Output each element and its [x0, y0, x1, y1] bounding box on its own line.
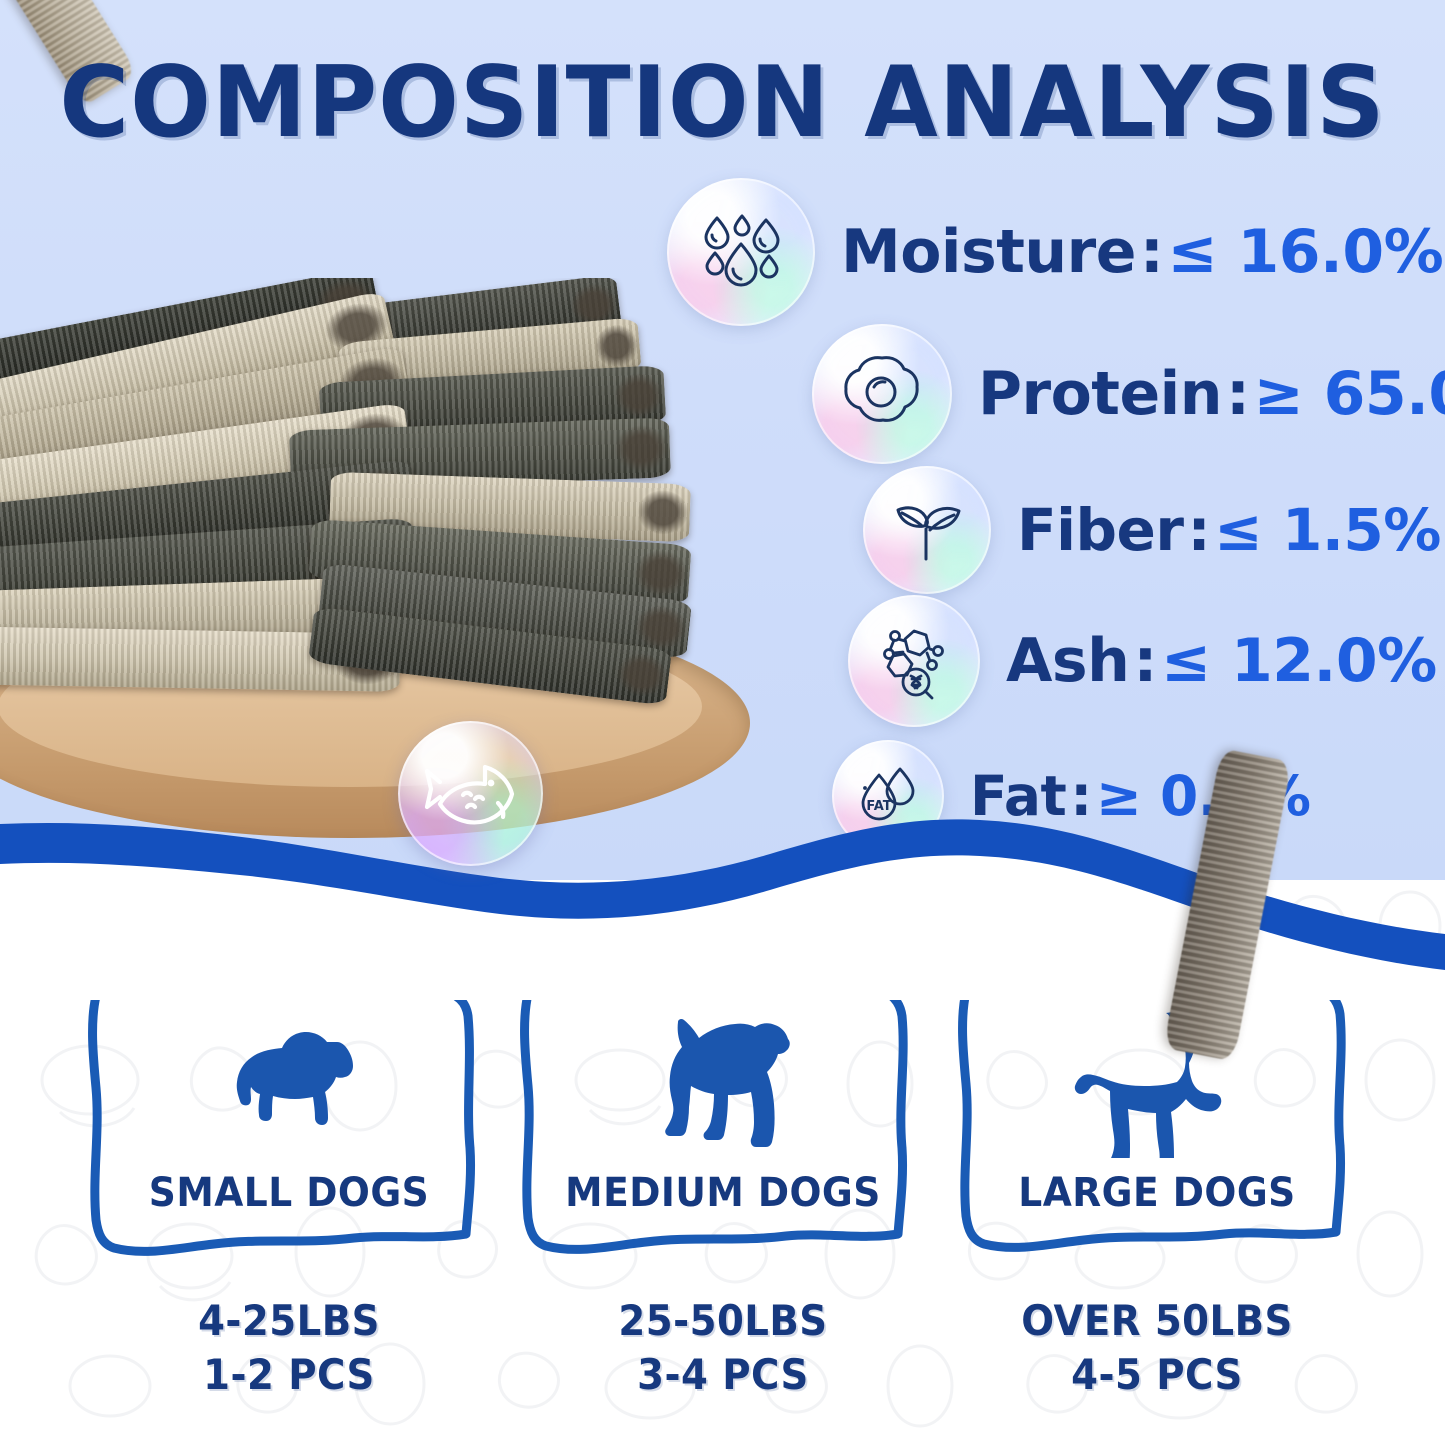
- fish-icon-bubble: [398, 721, 543, 866]
- composition-colon-ash: :: [1129, 626, 1161, 696]
- composition-text-protein: Protein:≥ 65.0%: [978, 359, 1445, 429]
- feeding-card-small[interactable]: SMALL DOGS 4-25LBS 1-2 PCS: [74, 972, 504, 1402]
- water-drops-icon-bubble: [667, 178, 815, 326]
- composition-row-ash: Ash:≤ 12.0%: [848, 595, 1437, 727]
- large-dog-icon-wrap: [942, 998, 1372, 1158]
- water-drops-icon: [695, 206, 787, 298]
- small-dog-icon: [209, 1018, 369, 1138]
- composition-label-moisture: Moisture: [841, 217, 1136, 287]
- composition-value-protein: ≥ 65.0%: [1253, 359, 1445, 429]
- feeding-card-sub-small: 4-25LBS 1-2 PCS: [91, 1294, 487, 1402]
- feeding-card-weight-medium: 25-50LBS: [525, 1294, 921, 1348]
- molecule-icon: [874, 621, 954, 701]
- composition-colon-protein: :: [1222, 359, 1254, 429]
- composition-text-ash: Ash:≤ 12.0%: [1006, 626, 1437, 696]
- feeding-card-sub-medium: 25-50LBS 3-4 PCS: [525, 1294, 921, 1402]
- feeding-card-large[interactable]: LARGE DOGS OVER 50LBS 4-5 PCS: [942, 972, 1372, 1402]
- feeding-card-weight-large: OVER 50LBS: [959, 1294, 1355, 1348]
- small-dog-icon-wrap: [74, 998, 504, 1158]
- composition-label-ash: Ash: [1006, 626, 1129, 696]
- medium-dog-icon: [638, 1003, 808, 1153]
- composition-value-ash: ≤ 12.0%: [1161, 626, 1437, 696]
- leaf-plant-icon: [888, 491, 966, 569]
- molecule-icon-bubble: [848, 595, 980, 727]
- composition-row-moisture: Moisture:≤ 16.0%: [667, 178, 1443, 326]
- composition-colon-fiber: :: [1183, 496, 1214, 564]
- composition-row-fiber: Fiber:≤ 1.5%: [863, 466, 1441, 594]
- feeding-card-pieces-large: 4-5 PCS: [959, 1348, 1355, 1402]
- medium-dog-icon-wrap: [508, 998, 938, 1158]
- composition-text-fiber: Fiber:≤ 1.5%: [1017, 496, 1441, 564]
- feeding-card-pieces-small: 1-2 PCS: [91, 1348, 487, 1402]
- fried-egg-icon: [839, 351, 925, 437]
- feeding-card-sub-large: OVER 50LBS 4-5 PCS: [959, 1294, 1355, 1402]
- composition-label-fiber: Fiber: [1017, 496, 1183, 564]
- composition-text-moisture: Moisture:≤ 16.0%: [841, 217, 1443, 287]
- feeding-card-title-small: SMALL DOGS: [86, 1170, 490, 1216]
- fish-icon: [423, 755, 519, 833]
- composition-value-moisture: ≤ 16.0%: [1167, 217, 1443, 287]
- leaf-plant-icon-bubble: [863, 466, 991, 594]
- composition-value-fiber: ≤ 1.5%: [1214, 496, 1441, 564]
- feeding-card-pieces-medium: 3-4 PCS: [525, 1348, 921, 1402]
- composition-list: Moisture:≤ 16.0% Protein:≥ 65.0%: [0, 0, 1445, 880]
- composition-colon-moisture: :: [1136, 217, 1168, 287]
- fried-egg-icon-bubble: [812, 324, 952, 464]
- infographic-page: COMPOSITION ANALYSIS: [0, 0, 1445, 1445]
- feeding-card-title-medium: MEDIUM DOGS: [520, 1170, 924, 1216]
- feeding-card-weight-small: 4-25LBS: [91, 1294, 487, 1348]
- composition-label-protein: Protein: [978, 359, 1222, 429]
- feeding-card-medium[interactable]: MEDIUM DOGS 25-50LBS 3-4 PCS: [508, 972, 938, 1402]
- composition-row-protein: Protein:≥ 65.0%: [812, 324, 1445, 464]
- feeding-card-title-large: LARGE DOGS: [954, 1170, 1358, 1216]
